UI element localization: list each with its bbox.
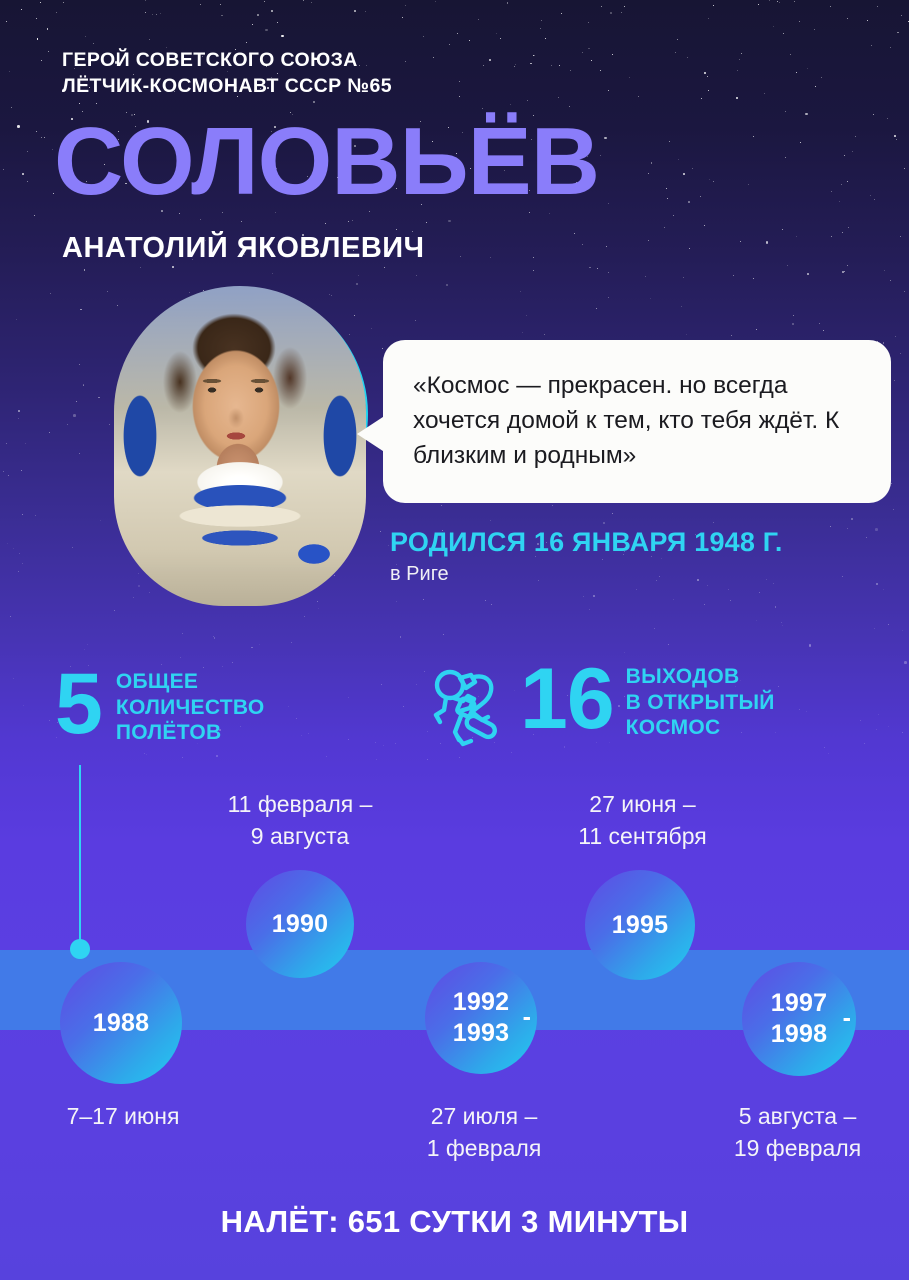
timeline-node[interactable]: 1997 1998 - (742, 962, 856, 1076)
timeline-node[interactable]: 1992 1993 - (425, 962, 537, 1074)
timeline-node-year: 1988 (93, 1008, 149, 1039)
stat-total-flights: 5 ОБЩЕЕ КОЛИЧЕСТВО ПОЛЁТОВ (55, 665, 265, 746)
timeline-node-year: 1990 (272, 909, 328, 940)
timeline-node-caption: 27 июня – 11 сентября (545, 788, 740, 852)
page-title-surname: СОЛОВЬЁВ (54, 112, 599, 212)
stat-flights-label: ОБЩЕЕ КОЛИЧЕСТВО ПОЛЁТОВ (116, 665, 265, 746)
timeline-node-caption: 11 февраля – 9 августа (205, 788, 395, 852)
stat-flights-number: 5 (55, 665, 102, 743)
timeline-node-caption: 27 июля – 1 февраля (389, 1100, 579, 1164)
timeline-start-dot (70, 939, 90, 959)
timeline-connector-line (79, 765, 81, 948)
birth-date: РОДИЛСЯ 16 ЯНВАРЯ 1948 Г. (390, 527, 783, 558)
eyebrow-title: ГЕРОЙ СОВЕТСКОГО СОЮЗА ЛЁТЧИК-КОСМОНАВТ … (62, 47, 392, 99)
timeline-node-year: 1992 1993 (453, 987, 509, 1049)
birth-place: в Риге (390, 563, 449, 586)
timeline-node-dash: - (523, 1002, 531, 1033)
infographic-poster: ГЕРОЙ СОВЕТСКОГО СОЮЗА ЛЁТЧИК-КОСМОНАВТ … (0, 0, 909, 1280)
timeline-node[interactable]: 1990 (246, 870, 354, 978)
total-flight-time: НАЛЁТ: 651 СУТКИ 3 МИНУТЫ (0, 1204, 909, 1240)
timeline-node-dash: - (843, 1003, 851, 1034)
avatar (116, 288, 368, 540)
stat-eva-number: 16 (520, 660, 614, 738)
quote-bubble: «Космос — прекрасен. но всегда хочется д… (383, 340, 891, 503)
speech-bubble-tail-icon (357, 415, 386, 453)
timeline-node-caption: 7–17 июня (38, 1100, 208, 1132)
timeline-node-year: 1997 1998 (771, 988, 827, 1050)
timeline-node-caption: 5 августа – 19 февраля (700, 1100, 895, 1164)
page-subtitle-firstname: АНАТОЛИЙ ЯКОВЛЕВИЧ (62, 232, 424, 265)
avatar-clip (114, 286, 366, 606)
stat-eva-label: ВЫХОДОВ В ОТКРЫТЫЙ КОСМОС (626, 660, 775, 741)
stat-spacewalks: 16 ВЫХОДОВ В ОТКРЫТЫЙ КОСМОС (430, 660, 775, 757)
timeline-node-year: 1995 (612, 910, 668, 941)
cosmonaut-eva-icon (430, 668, 506, 757)
timeline-node[interactable]: 1988 (60, 962, 182, 1084)
timeline-node[interactable]: 1995 (585, 870, 695, 980)
cosmonaut-photo (114, 286, 366, 606)
